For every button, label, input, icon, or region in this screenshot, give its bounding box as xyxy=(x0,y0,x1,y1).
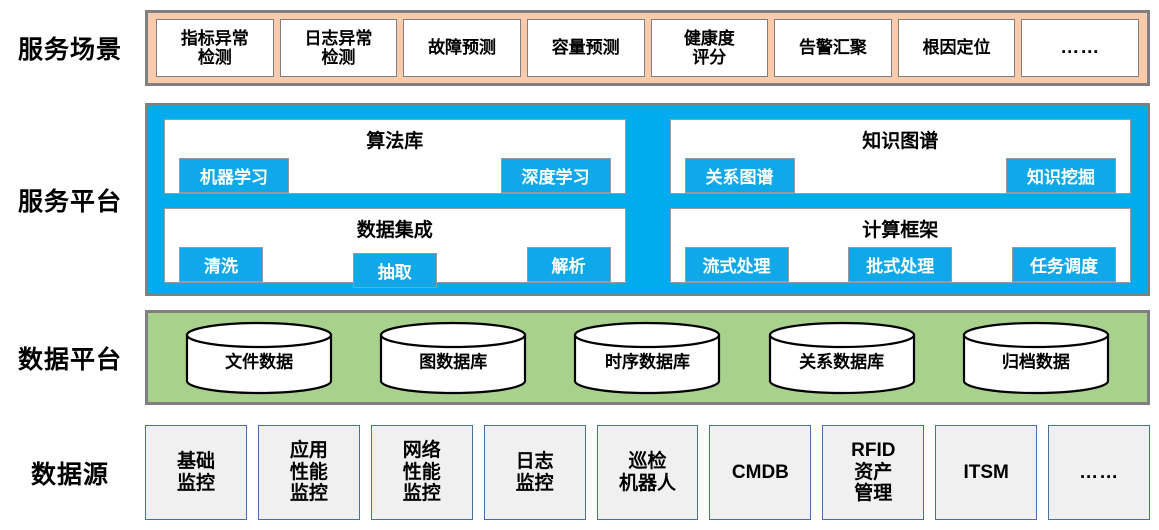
data-source-list: 基础 监控 应用 性能 监控 网络 性能 监控 日志 监控 巡检 机器人 CMD… xyxy=(145,425,1150,520)
source-label-line: 资产 xyxy=(854,462,892,484)
data-store-archive-data[interactable]: 归档数据 xyxy=(962,321,1110,395)
scenario-label-line: 指标异常 xyxy=(181,29,249,48)
scenario-box-health-score[interactable]: 健康度 评分 xyxy=(651,19,769,77)
source-box-apm[interactable]: 应用 性能 监控 xyxy=(258,425,360,520)
source-box-inspection-robot[interactable]: 巡检 机器人 xyxy=(597,425,699,520)
panel-title-compute-framework: 计算框架 xyxy=(862,215,938,242)
source-label-line: 网络 xyxy=(403,440,441,462)
panel-algorithm-library[interactable]: 算法库 机器学习 深度学习 xyxy=(164,119,626,194)
source-box-log-monitoring[interactable]: 日志 监控 xyxy=(484,425,586,520)
panel-title-knowledge-graph: 知识图谱 xyxy=(862,126,938,153)
scenario-box-log-anomaly[interactable]: 日志异常 检测 xyxy=(280,19,398,77)
data-store-relational-database[interactable]: 关系数据库 xyxy=(768,321,916,395)
cylinder-icon xyxy=(962,321,1110,395)
data-store-list: 文件数据 图数据库 时序数据库 xyxy=(148,313,1147,402)
source-label-line: …… xyxy=(1079,462,1119,484)
source-label-line: 性能 xyxy=(403,462,441,484)
service-scenario-box-list: 指标异常 检测 日志异常 检测 故障预测 容量预测 健康度 评分 告警汇聚 根因… xyxy=(148,13,1147,83)
source-label-line: 基础 xyxy=(177,451,215,473)
scenario-box-metric-anomaly[interactable]: 指标异常 检测 xyxy=(156,19,274,77)
chip-row-knowledge-graph: 关系图谱 知识挖掘 xyxy=(671,158,1131,193)
panel-title-data-integration: 数据集成 xyxy=(357,215,433,242)
source-label-line: 监控 xyxy=(290,483,328,505)
scenario-box-root-cause[interactable]: 根因定位 xyxy=(898,19,1016,77)
data-store-graph-database[interactable]: 图数据库 xyxy=(379,321,527,395)
source-box-cmdb[interactable]: CMDB xyxy=(709,425,811,520)
chip-knowledge-mining[interactable]: 知识挖掘 xyxy=(1006,158,1116,193)
row-label-data-source: 数据源 xyxy=(0,425,140,520)
scenario-label-line: 告警汇聚 xyxy=(799,38,867,57)
cylinder-icon xyxy=(768,321,916,395)
chip-row-compute-framework: 流式处理 批式处理 任务调度 xyxy=(671,247,1131,282)
chip-task-scheduling[interactable]: 任务调度 xyxy=(1012,247,1116,282)
source-label-line: 监控 xyxy=(403,483,441,505)
chip-row-algorithm-library: 机器学习 深度学习 xyxy=(165,158,625,193)
source-label-line: 监控 xyxy=(177,473,215,495)
row-label-service-platform: 服务平台 xyxy=(0,103,140,296)
source-box-rfid-asset-management[interactable]: RFID 资产 管理 xyxy=(822,425,924,520)
chip-cleaning[interactable]: 清洗 xyxy=(179,247,263,282)
data-platform-band: 文件数据 图数据库 时序数据库 xyxy=(145,310,1150,405)
scenario-box-capacity-prediction[interactable]: 容量预测 xyxy=(527,19,645,77)
scenario-label-line: …… xyxy=(1060,37,1100,58)
source-box-infrastructure-monitoring[interactable]: 基础 监控 xyxy=(145,425,247,520)
source-label-line: 管理 xyxy=(854,483,892,505)
source-box-itsm[interactable]: ITSM xyxy=(935,425,1037,520)
panel-data-integration[interactable]: 数据集成 清洗 抽取 解析 xyxy=(164,208,626,283)
scenario-label-line: 检测 xyxy=(321,48,355,67)
source-label-line: 应用 xyxy=(290,440,328,462)
scenario-box-more[interactable]: …… xyxy=(1021,19,1139,77)
scenario-label-line: 评分 xyxy=(692,48,726,67)
source-label-line: 性能 xyxy=(290,462,328,484)
scenario-label-line: 容量预测 xyxy=(552,38,620,57)
data-store-timeseries-database[interactable]: 时序数据库 xyxy=(573,321,721,395)
cylinder-icon xyxy=(573,321,721,395)
source-label-line: 机器人 xyxy=(619,473,676,495)
row-label-data-platform: 数据平台 xyxy=(0,310,140,405)
chip-relation-graph[interactable]: 关系图谱 xyxy=(685,158,795,193)
panel-compute-framework[interactable]: 计算框架 流式处理 批式处理 任务调度 xyxy=(670,208,1132,283)
source-box-more[interactable]: …… xyxy=(1048,425,1150,520)
scenario-label-line: 根因定位 xyxy=(923,38,991,57)
source-label-line: 监控 xyxy=(516,473,554,495)
chip-machine-learning[interactable]: 机器学习 xyxy=(179,158,289,193)
scenario-label-line: 故障预测 xyxy=(428,38,496,57)
cylinder-icon xyxy=(379,321,527,395)
chip-batch-processing[interactable]: 批式处理 xyxy=(848,247,952,282)
source-label-line: RFID xyxy=(851,440,895,462)
chip-stream-processing[interactable]: 流式处理 xyxy=(685,247,789,282)
panel-knowledge-graph[interactable]: 知识图谱 关系图谱 知识挖掘 xyxy=(670,119,1132,194)
source-label-line: 巡检 xyxy=(629,451,667,473)
chip-row-data-integration: 清洗 抽取 解析 xyxy=(165,247,625,282)
cylinder-icon xyxy=(185,321,333,395)
row-label-service-scenario: 服务场景 xyxy=(0,10,140,86)
service-scenario-band: 指标异常 检测 日志异常 检测 故障预测 容量预测 健康度 评分 告警汇聚 根因… xyxy=(145,10,1150,86)
source-label-line: ITSM xyxy=(963,462,1008,484)
chip-deep-learning[interactable]: 深度学习 xyxy=(501,158,611,193)
source-label-line: CMDB xyxy=(732,462,789,484)
chip-parsing[interactable]: 解析 xyxy=(527,247,611,282)
service-platform-band: 算法库 机器学习 深度学习 知识图谱 关系图谱 知识挖掘 数据集成 清洗 xyxy=(145,103,1150,296)
source-box-npm[interactable]: 网络 性能 监控 xyxy=(371,425,473,520)
source-label-line: 日志 xyxy=(516,451,554,473)
service-platform-panel-grid: 算法库 机器学习 深度学习 知识图谱 关系图谱 知识挖掘 数据集成 清洗 xyxy=(148,106,1147,293)
scenario-box-fault-prediction[interactable]: 故障预测 xyxy=(403,19,521,77)
scenario-label-line: 健康度 xyxy=(684,29,735,48)
panel-title-algorithm-library: 算法库 xyxy=(366,126,423,153)
scenario-box-alarm-aggregation[interactable]: 告警汇聚 xyxy=(774,19,892,77)
data-store-file-data[interactable]: 文件数据 xyxy=(185,321,333,395)
scenario-label-line: 检测 xyxy=(198,48,232,67)
chip-extraction[interactable]: 抽取 xyxy=(353,253,437,288)
architecture-diagram: 服务场景 指标异常 检测 日志异常 检测 故障预测 容量预测 健康度 评分 告警… xyxy=(0,0,1159,530)
scenario-label-line: 日志异常 xyxy=(304,29,372,48)
